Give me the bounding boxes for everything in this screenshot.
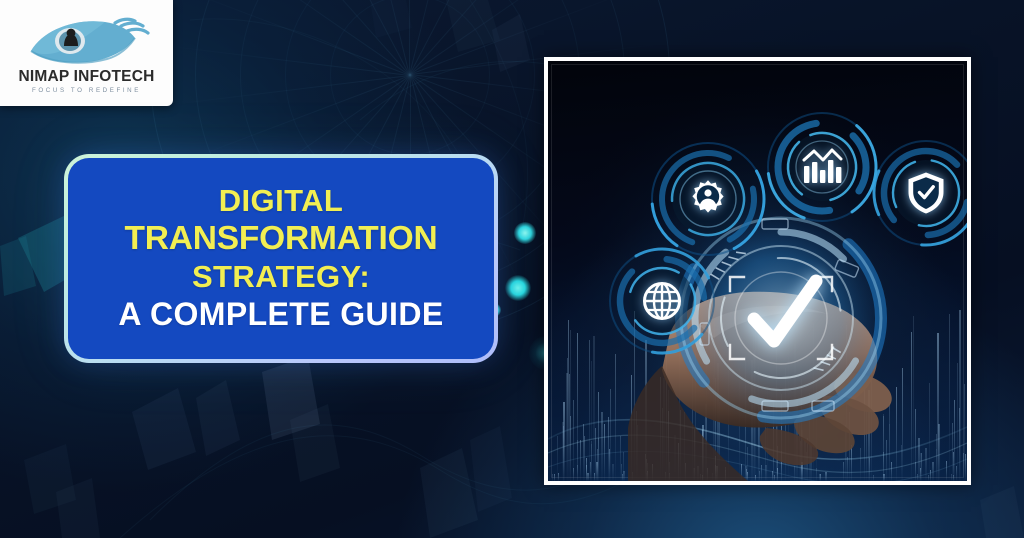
hero-backdrop-shading bbox=[548, 61, 967, 481]
logo-company-name: NIMAP INFOTECH bbox=[19, 69, 155, 85]
hero-image bbox=[548, 61, 967, 481]
logo-tagline: FOCUS TO REDEFINE bbox=[32, 88, 141, 94]
bokeh-glow-large bbox=[505, 275, 531, 301]
title-card[interactable]: DIGITAL TRANSFORMATION STRATEGY: A COMPL… bbox=[64, 154, 498, 363]
bokeh-glow-top bbox=[514, 222, 536, 244]
logo-card[interactable]: NIMAP INFOTECH FOCUS TO REDEFINE bbox=[0, 0, 173, 106]
globe-icon bbox=[642, 281, 682, 321]
banner-root: NIMAP INFOTECH FOCUS TO REDEFINE DIGITAL… bbox=[0, 0, 1024, 538]
title-line-2: TRANSFORMATION bbox=[125, 222, 438, 256]
globe-icon-node[interactable] bbox=[606, 245, 718, 357]
user-settings-gear-icon bbox=[686, 177, 730, 221]
title-card-wrapper: DIGITAL TRANSFORMATION STRATEGY: A COMPL… bbox=[64, 154, 498, 363]
title-line-3: STRATEGY: bbox=[192, 261, 370, 292]
hero-image-frame[interactable] bbox=[544, 57, 971, 485]
title-line-1: DIGITAL bbox=[219, 185, 343, 216]
user-settings-gear-icon-node[interactable] bbox=[648, 139, 768, 259]
eye-icon bbox=[23, 16, 151, 68]
title-line-4: A COMPLETE GUIDE bbox=[118, 298, 443, 330]
bar-chart-analytics-icon bbox=[801, 148, 843, 186]
bar-chart-analytics-icon-node[interactable] bbox=[764, 109, 880, 225]
shield-check-icon bbox=[907, 171, 945, 215]
